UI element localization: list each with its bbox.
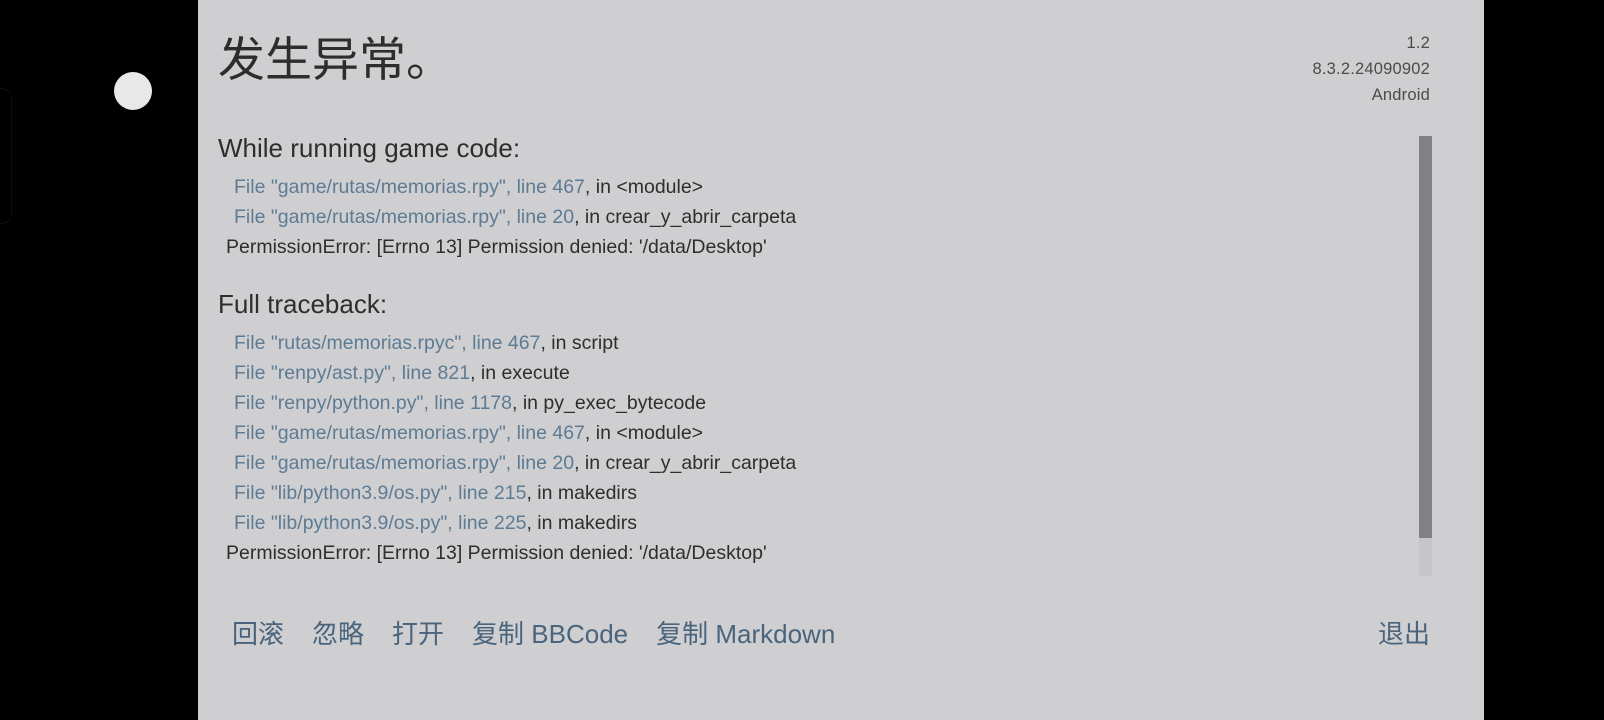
frame-line-number: line 225 (458, 512, 526, 534)
section-heading: While running game code: (218, 128, 1404, 168)
platform-name: Android (1313, 82, 1431, 108)
version-info: 1.2 8.3.2.24090902 Android (1313, 30, 1431, 108)
frame-line-number: line 467 (517, 422, 585, 444)
copy-markdown-button[interactable]: 复制 Markdown (642, 614, 849, 654)
exception-dialog-panel: 发生异常。 1.2 8.3.2.24090902 Android While r… (198, 0, 1484, 720)
frame-function-name: , in <module> (585, 422, 703, 444)
frame-line-number: line 20 (517, 206, 574, 228)
footer-quit-group: 退出 (1364, 614, 1444, 654)
renpy-version: 1.2 (1313, 30, 1431, 56)
frame-function-name: , in crear_y_abrir_carpeta (574, 206, 796, 228)
frame-file-path: File "renpy/python.py", (234, 392, 434, 414)
frame-line-number: line 467 (472, 332, 540, 354)
quit-button[interactable]: 退出 (1364, 614, 1444, 654)
traceback-frame-line: File "game/rutas/memorias.rpy", line 467… (218, 418, 1404, 448)
frame-line-number: line 1178 (434, 392, 512, 414)
frame-file-path: File "game/rutas/memorias.rpy", (234, 206, 517, 228)
page-title: 发生异常。 (218, 30, 453, 90)
exception-message: PermissionError: [Errno 13] Permission d… (218, 232, 1404, 262)
copy-bbcode-button[interactable]: 复制 BBCode (458, 614, 642, 654)
frame-function-name: , in makedirs (526, 512, 637, 534)
build-version: 8.3.2.24090902 (1313, 56, 1431, 82)
frame-function-name: , in execute (470, 362, 570, 384)
traceback-section: While running game code:File "game/rutas… (218, 128, 1404, 262)
traceback-frame-line: File "game/rutas/memorias.rpy", line 467… (218, 172, 1404, 202)
frame-function-name: , in py_exec_bytecode (512, 392, 706, 414)
frame-function-name: , in makedirs (526, 482, 637, 504)
frame-function-name: , in script (540, 332, 618, 354)
frame-function-name: , in crear_y_abrir_carpeta (574, 452, 796, 474)
exception-message: PermissionError: [Errno 13] Permission d… (218, 538, 1404, 568)
frame-file-path: File "game/rutas/memorias.rpy", (234, 422, 517, 444)
traceback-frame-line: File "game/rutas/memorias.rpy", line 20,… (218, 202, 1404, 232)
traceback-scroll-area[interactable]: While running game code:File "game/rutas… (198, 128, 1484, 588)
open-button[interactable]: 打开 (378, 614, 458, 654)
frame-file-path: File "game/rutas/memorias.rpy", (234, 452, 517, 474)
ignore-button[interactable]: 忽略 (298, 614, 378, 654)
camera-punch-hole-icon (114, 72, 152, 110)
rollback-button[interactable]: 回滚 (218, 614, 298, 654)
footer-bar: 回滚 忽略 打开 复制 BBCode 复制 Markdown 退出 (198, 604, 1484, 664)
frame-line-number: line 821 (402, 362, 470, 384)
frame-function-name: , in <module> (585, 176, 703, 198)
side-button-icon (0, 88, 12, 224)
traceback-frame-line: File "renpy/python.py", line 1178, in py… (218, 388, 1404, 418)
traceback-frame-line: File "lib/python3.9/os.py", line 225, in… (218, 508, 1404, 538)
frame-file-path: File "rutas/memorias.rpyc", (234, 332, 472, 354)
traceback-frame-line: File "rutas/memorias.rpyc", line 467, in… (218, 328, 1404, 358)
scrollbar-thumb[interactable] (1419, 136, 1432, 538)
traceback-frame-line: File "game/rutas/memorias.rpy", line 20,… (218, 448, 1404, 478)
frame-file-path: File "lib/python3.9/os.py", (234, 512, 458, 534)
frame-file-path: File "lib/python3.9/os.py", (234, 482, 458, 504)
frame-file-path: File "game/rutas/memorias.rpy", (234, 176, 517, 198)
footer-actions-group: 回滚 忽略 打开 复制 BBCode 复制 Markdown (218, 614, 849, 654)
traceback-frame-line: File "lib/python3.9/os.py", line 215, in… (218, 478, 1404, 508)
frame-line-number: line 20 (517, 452, 574, 474)
frame-file-path: File "renpy/ast.py", (234, 362, 402, 384)
frame-line-number: line 467 (517, 176, 585, 198)
traceback-section: Full traceback:File "rutas/memorias.rpyc… (218, 284, 1404, 568)
frame-line-number: line 215 (458, 482, 526, 504)
traceback-content: While running game code:File "game/rutas… (218, 128, 1404, 568)
traceback-frame-line: File "renpy/ast.py", line 821, in execut… (218, 358, 1404, 388)
section-heading: Full traceback: (218, 284, 1404, 324)
